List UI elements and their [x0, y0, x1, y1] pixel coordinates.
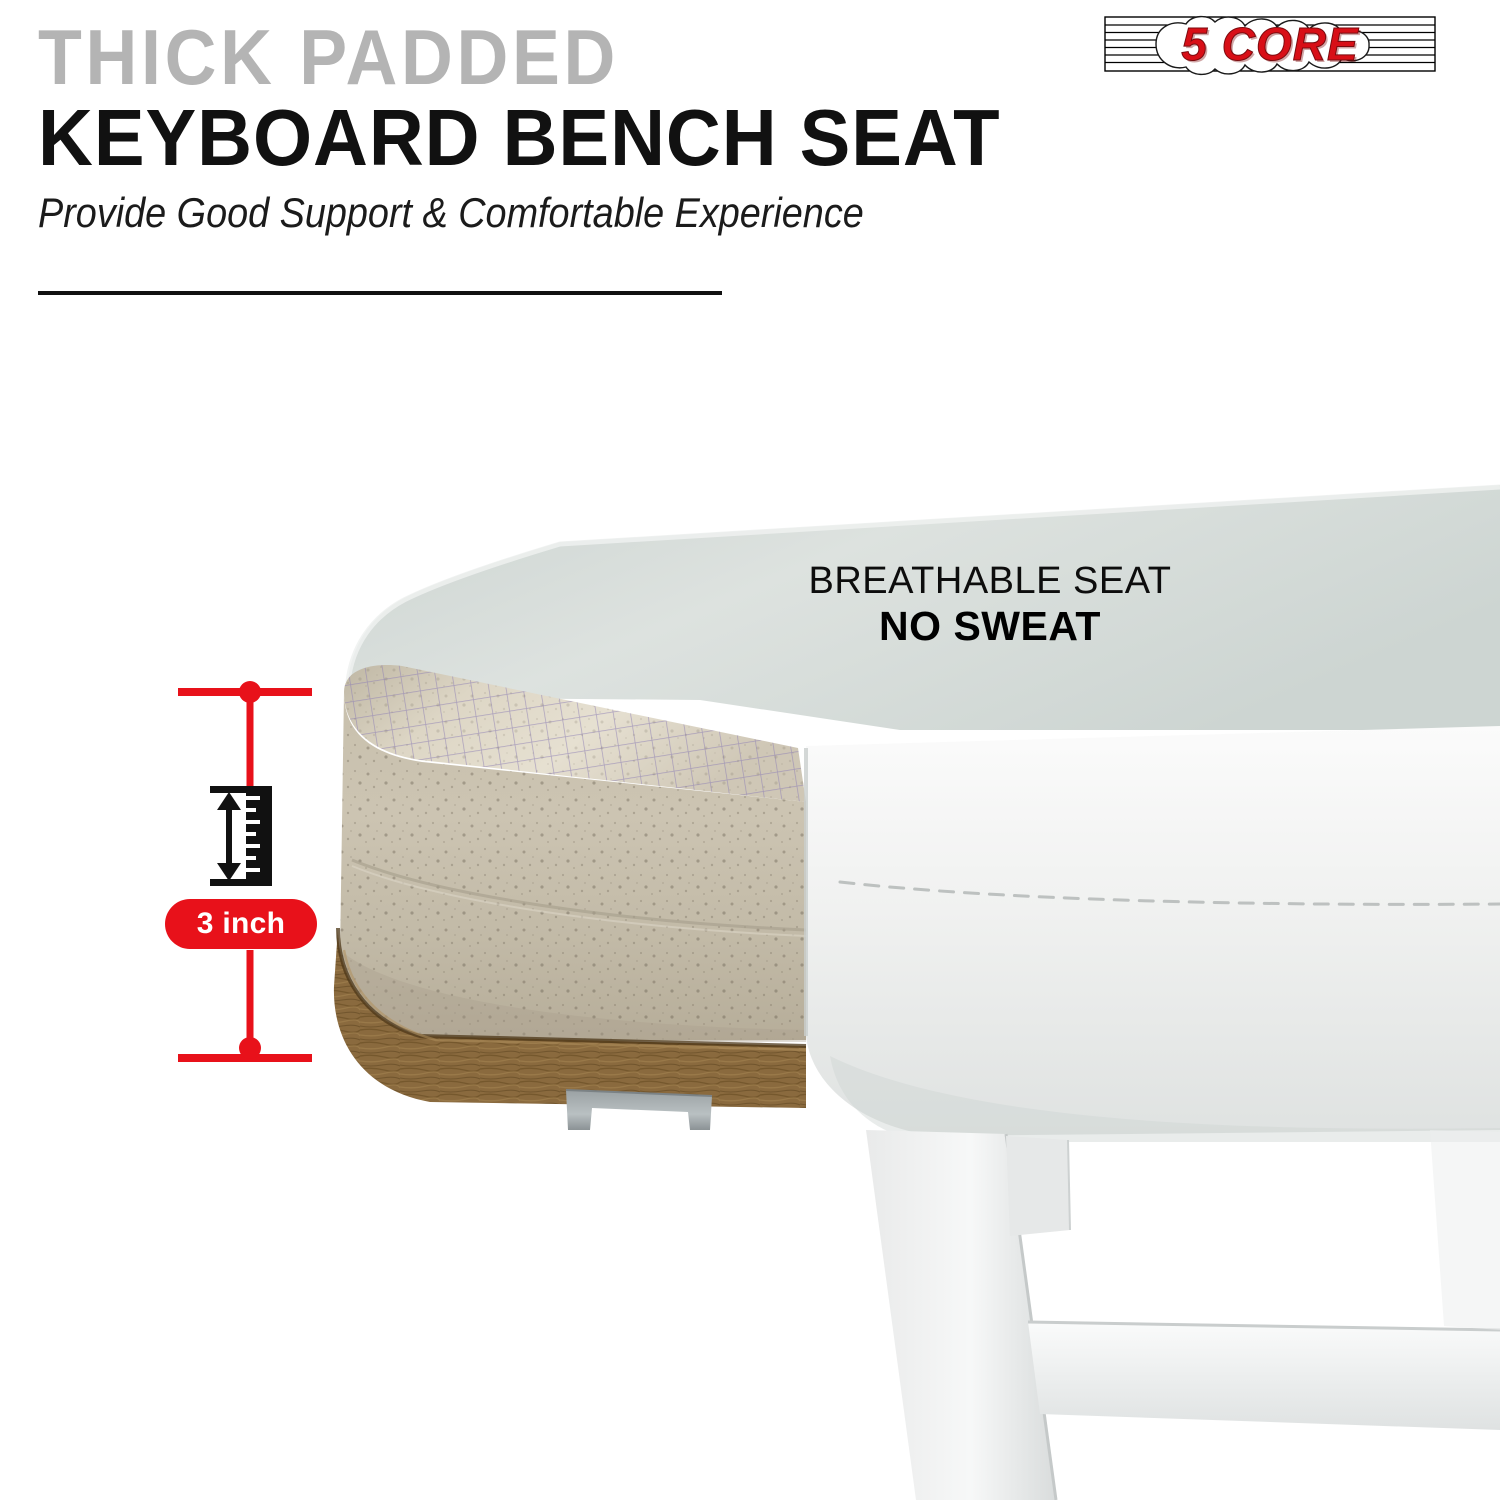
thickness-badge: 3 inch — [165, 899, 317, 949]
logo-staff-lines — [1104, 11, 1436, 77]
thickness-measurement — [160, 660, 380, 1080]
thickness-badge-label: 3 inch — [197, 909, 286, 939]
eyebrow-heading: THICK PADDED — [38, 20, 995, 94]
header-text-block: THICK PADDED KEYBOARD BENCH SEAT Provide… — [38, 20, 1078, 236]
breathable-seat-callout: BREATHABLE SEAT NO SWEAT — [790, 562, 1190, 648]
header-divider — [38, 291, 722, 295]
five-core-logo: 5 CORE — [1104, 11, 1436, 77]
bench-seat-vinyl-side — [806, 726, 1500, 1142]
bench-leg-frame — [866, 1130, 1500, 1500]
ruler-icon — [210, 786, 272, 886]
product-infographic: THICK PADDED KEYBOARD BENCH SEAT Provide… — [0, 0, 1500, 1500]
callout-line-1: BREATHABLE SEAT — [790, 562, 1190, 602]
subtitle: Provide Good Support & Comfortable Exper… — [38, 190, 974, 236]
callout-line-2: NO SWEAT — [790, 605, 1190, 648]
foam-cutaway — [340, 665, 806, 1042]
page-title: KEYBOARD BENCH SEAT — [38, 98, 1026, 178]
seat-mounting-bracket — [566, 1090, 712, 1130]
